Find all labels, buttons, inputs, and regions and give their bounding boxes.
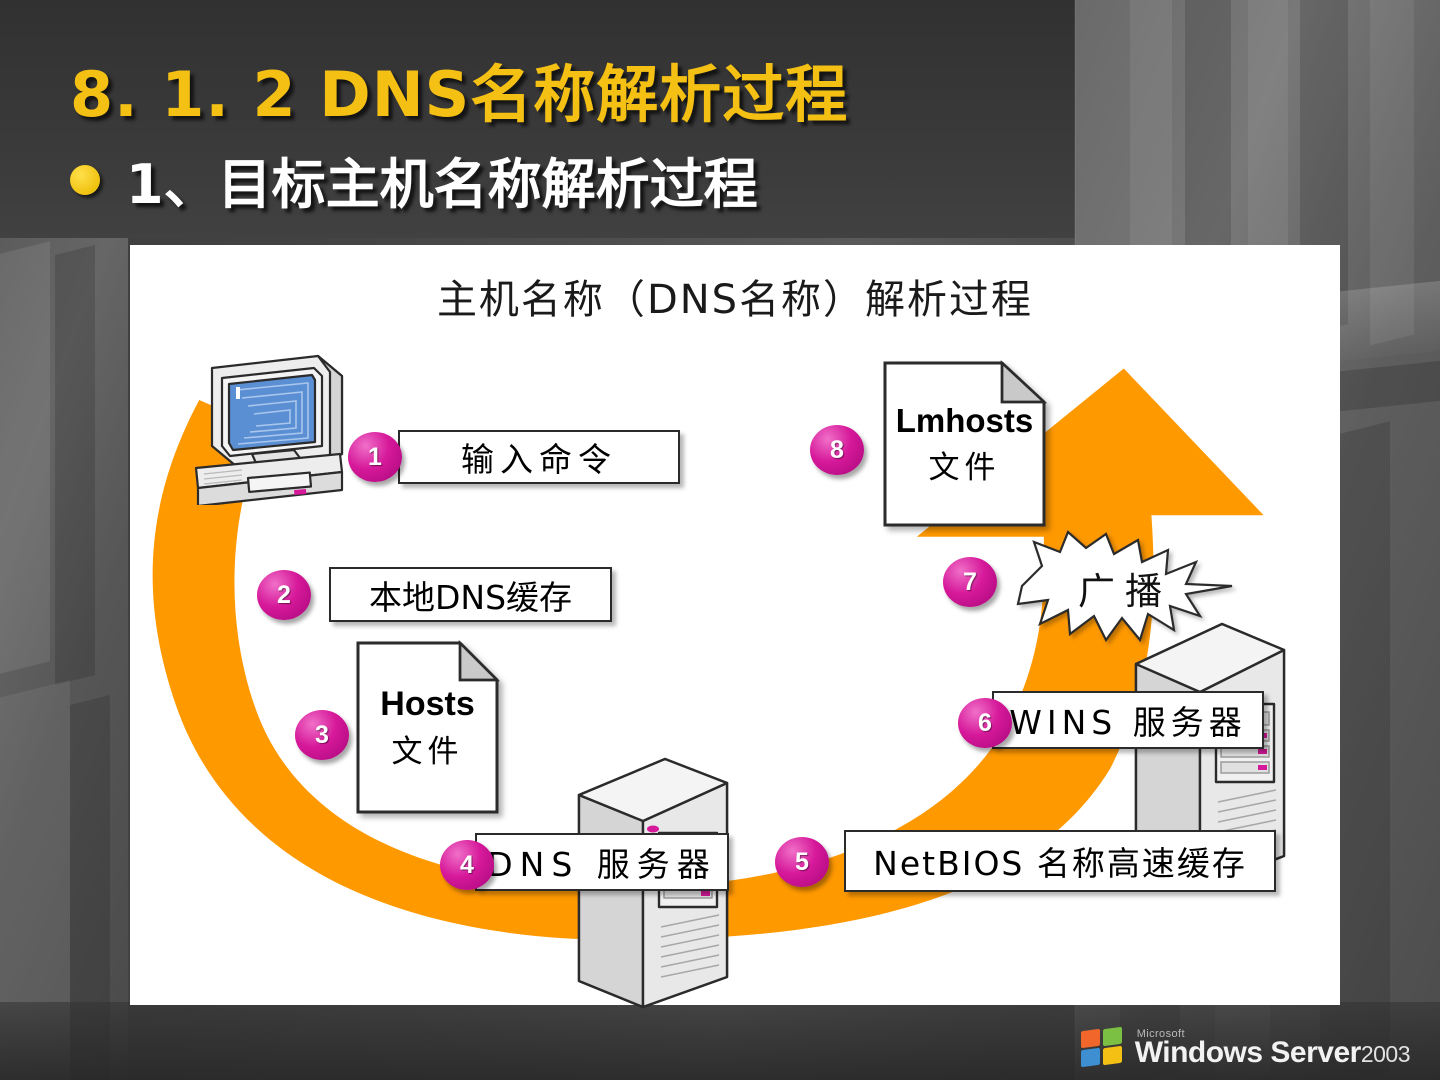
diagram-panel: 主机名称（DNS名称）解析过程: [130, 245, 1340, 1005]
broadcast-label: 广播: [1010, 530, 1240, 645]
step-badge-8[interactable]: 8: [810, 425, 864, 475]
callout-dns-server-label: DNS 服务器: [487, 838, 717, 886]
step-badge-5[interactable]: 5: [775, 837, 829, 887]
callout-netbios-cache-label: NetBIOS 名称高速缓存: [873, 837, 1247, 885]
callout-local-dns-cache[interactable]: 本地DNS缓存: [329, 567, 612, 622]
bullet-dot-icon: [70, 165, 100, 195]
windows-server-wordmark: Microsoft Windows Server2003: [1135, 1032, 1410, 1068]
subtitle-bullet-row: 1、目标主机名称解析过程: [70, 140, 758, 219]
lmhosts-file-document-icon: Lmhosts 文件: [882, 360, 1047, 528]
callout-wins-server[interactable]: WINS 服务器: [992, 691, 1264, 749]
callout-local-dns-cache-label: 本地DNS缓存: [369, 571, 572, 619]
background-slat: [0, 241, 50, 678]
step-badge-6[interactable]: 6: [958, 698, 1012, 748]
desktop-computer-icon: [190, 350, 350, 505]
windows-server-logo: Microsoft Windows Server2003: [1081, 1028, 1410, 1068]
callout-dns-server[interactable]: DNS 服务器: [475, 833, 729, 891]
page-title: 8. 1. 2 DNS名称解析过程: [70, 44, 848, 134]
brand-main-label: Windows Server: [1135, 1036, 1361, 1069]
step-badge-1[interactable]: 1: [348, 432, 402, 482]
step-badge-7[interactable]: 7: [943, 557, 997, 607]
microsoft-label: Microsoft: [1137, 1028, 1185, 1040]
brand-main: Windows Server2003: [1135, 1038, 1410, 1068]
windows-flag-icon: [1081, 1028, 1125, 1068]
step-badge-3[interactable]: 3: [295, 710, 349, 760]
brand-year-label: 2003: [1361, 1041, 1410, 1067]
subtitle-label: 1、目标主机名称解析过程: [126, 140, 758, 219]
background-slat: [55, 245, 95, 685]
step-badge-4[interactable]: 4: [440, 840, 494, 890]
callout-wins-server-label: WINS 服务器: [1009, 696, 1246, 744]
callout-netbios-cache[interactable]: NetBIOS 名称高速缓存: [844, 830, 1276, 892]
step-badge-2[interactable]: 2: [257, 570, 311, 620]
broadcast-starburst-icon: 广播: [1010, 530, 1240, 645]
callout-input-command[interactable]: 输入命令: [398, 430, 680, 484]
hosts-file-document-icon: Hosts 文件: [355, 640, 500, 815]
